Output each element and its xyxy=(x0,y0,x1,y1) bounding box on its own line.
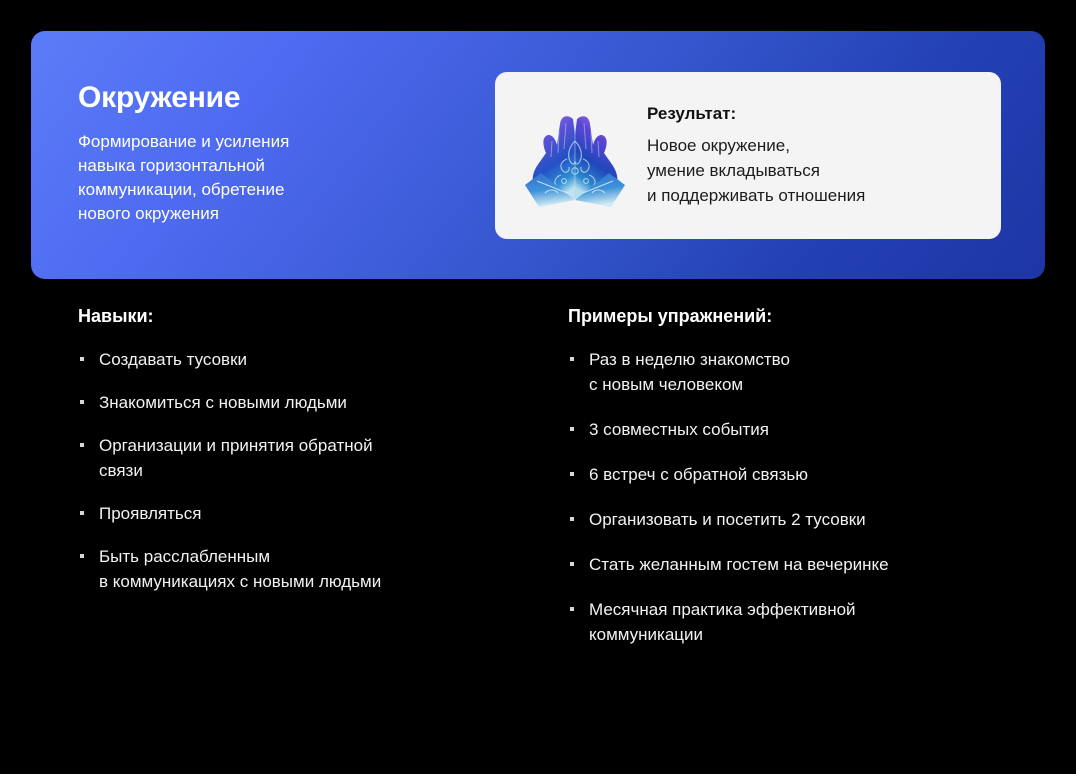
result-card: Результат: Новое окружение, умение вклад… xyxy=(495,72,1001,239)
list-item: Быть расслабленным в коммуникациях с нов… xyxy=(78,544,518,594)
folded-hands-icon xyxy=(517,101,633,211)
exercises-column: Примеры упражнений: Раз в неделю знакомс… xyxy=(568,305,1018,667)
skills-heading: Навыки: xyxy=(78,305,518,327)
banner-subtitle: Формирование и усиления навыка горизонта… xyxy=(78,130,478,226)
list-item: Стать желанным гостем на вечеринке xyxy=(568,552,1018,577)
banner-inner: Окружение Формирование и усиления навыка… xyxy=(31,31,1045,279)
result-body: Новое окружение, умение вкладываться и п… xyxy=(647,133,983,208)
list-item: 3 совместных события xyxy=(568,417,1018,442)
exercises-list: Раз в неделю знакомство с новым человеко… xyxy=(568,347,1018,647)
list-item: Месячная практика эффективной коммуникац… xyxy=(568,597,1018,647)
page-title: Окружение xyxy=(78,80,478,116)
list-item: Организовать и посетить 2 тусовки xyxy=(568,507,1018,532)
skills-list: Создавать тусовки Знакомиться с новыми л… xyxy=(78,347,518,594)
header-banner: Окружение Формирование и усиления навыка… xyxy=(31,31,1045,279)
list-item: 6 встреч с обратной связью xyxy=(568,462,1018,487)
list-item: Знакомиться с новыми людьми xyxy=(78,390,518,415)
list-item: Раз в неделю знакомство с новым человеко… xyxy=(568,347,1018,397)
result-text-block: Результат: Новое окружение, умение вклад… xyxy=(647,103,983,208)
result-heading: Результат: xyxy=(647,103,983,125)
slide-root: Окружение Формирование и усиления навыка… xyxy=(0,0,1076,774)
list-item: Создавать тусовки xyxy=(78,347,518,372)
list-item: Организации и принятия обратной связи xyxy=(78,433,518,483)
exercises-heading: Примеры упражнений: xyxy=(568,305,1018,327)
banner-text-block: Окружение Формирование и усиления навыка… xyxy=(78,80,478,226)
skills-column: Навыки: Создавать тусовки Знакомиться с … xyxy=(78,305,518,594)
list-item: Проявляться xyxy=(78,501,518,526)
